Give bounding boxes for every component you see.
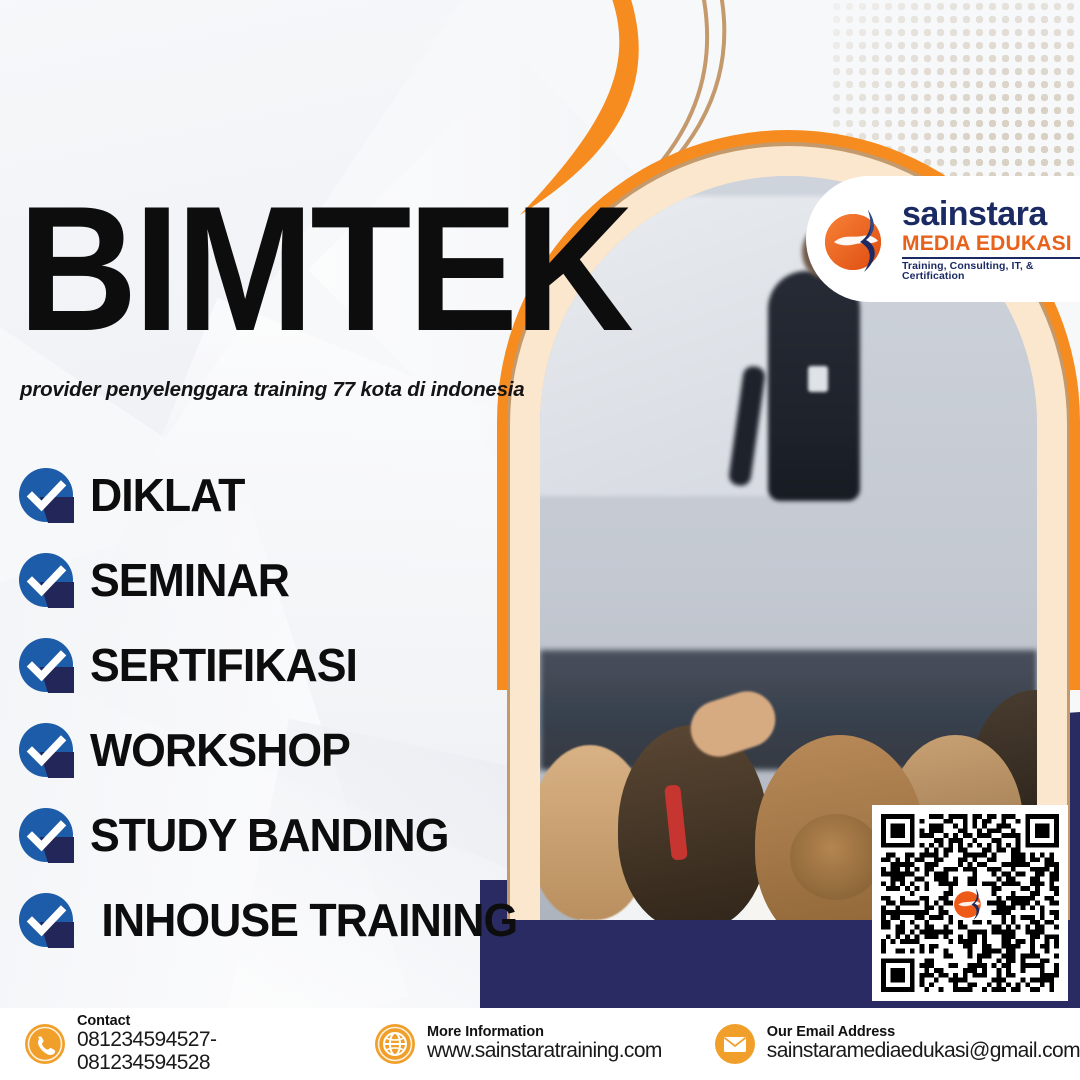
service-label: INHOUSE TRAINING <box>90 893 517 947</box>
sainstara-emblem-icon <box>951 884 989 922</box>
footer-label: More Information <box>427 1025 662 1041</box>
check-circle-icon <box>18 637 74 693</box>
list-item: WORKSHOP <box>18 707 578 792</box>
footer-text-block: Our Email Address sainstaramediaedukasi@… <box>767 1025 1080 1063</box>
brand-divider <box>902 257 1080 259</box>
brand-tagline: Training, Consulting, IT, & Certificatio… <box>902 261 1080 282</box>
footer-label: Our Email Address <box>767 1025 1080 1041</box>
photo-attendee-head <box>618 725 768 920</box>
footer-contact-website[interactable]: More Information www.sainstaratraining.c… <box>374 1023 662 1065</box>
check-circle-icon <box>18 552 74 608</box>
service-label: DIKLAT <box>90 468 244 522</box>
footer-value: www.sainstaratraining.com <box>427 1040 662 1063</box>
footer-contact-email[interactable]: Our Email Address sainstaramediaedukasi@… <box>714 1023 1080 1065</box>
poster-canvas: sainstara MEDIA EDUKASI Training, Consul… <box>0 0 1080 1080</box>
footer-value: sainstaramediaedukasi@gmail.com <box>767 1040 1080 1063</box>
check-circle-icon <box>18 892 74 948</box>
brand-name: sainstara <box>902 197 1080 231</box>
brand-subtitle: MEDIA EDUKASI <box>902 233 1080 254</box>
list-item: STUDY BANDING <box>18 792 578 877</box>
list-item: SERTIFIKASI <box>18 622 578 707</box>
page-subtitle: provider penyelenggara training 77 kota … <box>20 378 525 402</box>
sainstara-emblem-icon <box>820 202 894 276</box>
footer-text-block: More Information www.sainstaratraining.c… <box>427 1025 662 1063</box>
page-title: BIMTEK <box>18 196 630 342</box>
qr-code[interactable] <box>872 805 1068 1001</box>
list-item: INHOUSE TRAINING <box>18 877 578 962</box>
photo-speaker-badge <box>808 366 828 392</box>
list-item: SEMINAR <box>18 537 578 622</box>
phone-icon <box>24 1023 66 1065</box>
check-circle-icon <box>18 467 74 523</box>
list-item: DIKLAT <box>18 452 578 537</box>
qr-code-matrix <box>881 814 1059 992</box>
service-label: SEMINAR <box>90 553 289 607</box>
globe-icon <box>374 1023 416 1065</box>
service-label: WORKSHOP <box>90 723 350 777</box>
brand-logo-badge: sainstara MEDIA EDUKASI Training, Consul… <box>806 176 1080 302</box>
brand-logo-text: sainstara MEDIA EDUKASI Training, Consul… <box>902 197 1080 282</box>
footer-text-block: Contact 081234594527-081234594528 <box>77 1014 320 1075</box>
contact-footer: Contact 081234594527-081234594528 More I… <box>0 1008 1080 1080</box>
service-label: SERTIFIKASI <box>90 638 357 692</box>
service-label: STUDY BANDING <box>90 808 448 862</box>
check-circle-icon <box>18 807 74 863</box>
services-list: DIKLAT SEMINAR SERTIFIKASI <box>18 452 578 962</box>
photo-attendee-hairbun <box>790 814 882 900</box>
envelope-icon <box>714 1023 756 1065</box>
footer-contact-phone[interactable]: Contact 081234594527-081234594528 <box>24 1014 320 1075</box>
check-circle-icon <box>18 722 74 778</box>
footer-label: Contact <box>77 1014 320 1030</box>
footer-value: 081234594527-081234594528 <box>77 1029 320 1074</box>
